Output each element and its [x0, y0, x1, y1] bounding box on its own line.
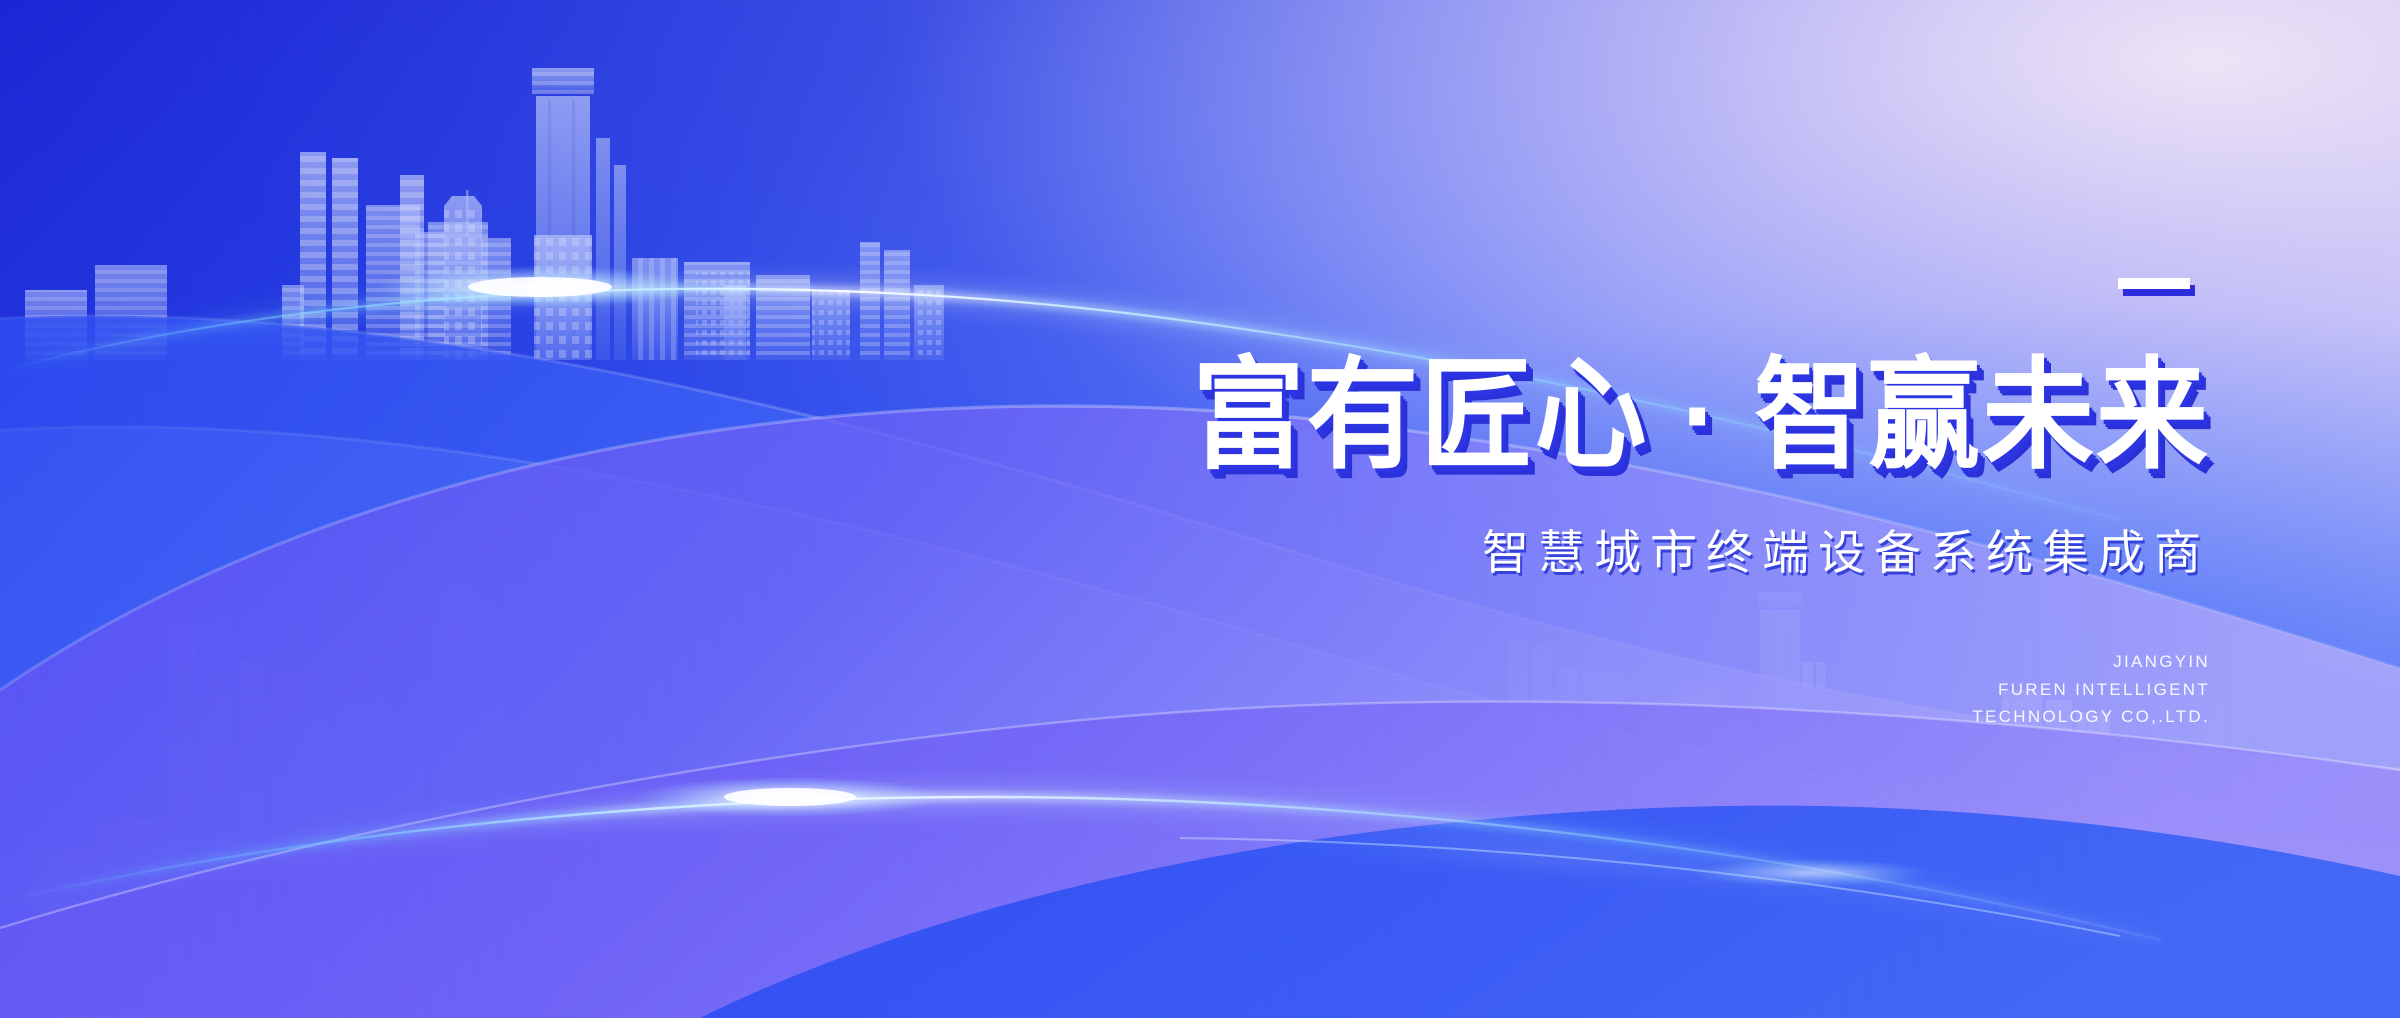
glow-arc-lower [0, 777, 2160, 940]
glow-arcs-layer [0, 0, 2400, 1018]
banner-canvas: 富有匠心 · 智赢未来 智慧城市终端设备系统集成商 JIANGYIN FUREN… [0, 0, 2400, 1018]
glow-arc-upper [0, 266, 2120, 520]
